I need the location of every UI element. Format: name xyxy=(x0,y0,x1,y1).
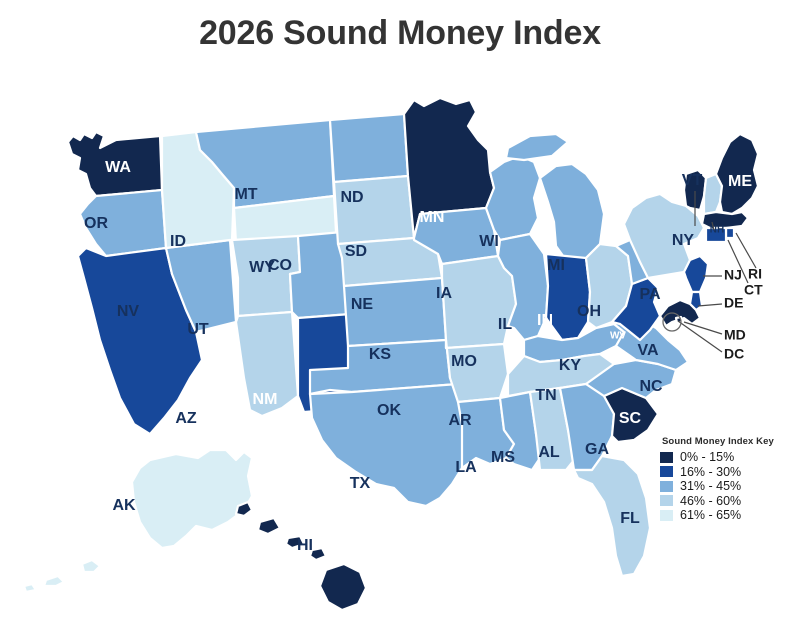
legend-label: 46% - 60% xyxy=(680,494,741,508)
state-KS[interactable] xyxy=(344,278,446,346)
legend-swatch xyxy=(660,510,673,521)
state-IN[interactable] xyxy=(546,254,590,340)
legend-row: 61% - 65% xyxy=(660,508,792,523)
state-label-MA: MA xyxy=(713,244,729,255)
legend-label: 16% - 30% xyxy=(680,465,741,479)
legend-row: 31% - 45% xyxy=(660,479,792,494)
legend-label: 0% - 15% xyxy=(680,450,734,464)
legend-swatch xyxy=(660,481,673,492)
callout-label-RI: RI xyxy=(748,266,762,282)
legend: Sound Money Index Key 0% - 15% 16% - 30%… xyxy=(660,436,792,523)
state-ND[interactable] xyxy=(330,114,408,182)
callout-label-DE: DE xyxy=(724,295,743,311)
state-HI[interactable] xyxy=(236,502,366,610)
state-AR[interactable] xyxy=(446,340,508,402)
leader-dc xyxy=(678,321,722,352)
leader-md xyxy=(684,322,722,334)
callout-label-MD: MD xyxy=(724,327,746,343)
callout-label-NJ: NJ xyxy=(724,267,742,283)
state-AK[interactable] xyxy=(24,450,252,592)
legend-row: 0% - 15% xyxy=(660,450,792,465)
us-map-svg: WA OR CA NV ID MT WY UT AZ CO NM ND SD N… xyxy=(0,78,800,638)
state-ME[interactable] xyxy=(716,134,758,214)
state-CT[interactable] xyxy=(706,228,726,242)
legend-label: 61% - 65% xyxy=(680,508,741,522)
state-WI[interactable] xyxy=(486,156,540,240)
state-OR[interactable] xyxy=(80,190,166,256)
state-MA[interactable] xyxy=(702,212,748,228)
legend-row: 16% - 30% xyxy=(660,465,792,480)
legend-swatch xyxy=(660,466,673,477)
legend-row: 46% - 60% xyxy=(660,494,792,509)
state-AZ[interactable] xyxy=(236,312,298,416)
legend-swatch xyxy=(660,495,673,506)
legend-swatch xyxy=(660,452,673,463)
state-label-AZ: AZ xyxy=(175,410,197,427)
state-label-CA: CA xyxy=(76,351,100,368)
callout-label-DC: DC xyxy=(724,346,744,362)
legend-title: Sound Money Index Key xyxy=(662,436,792,447)
state-FL[interactable] xyxy=(574,456,650,576)
state-TX[interactable] xyxy=(310,384,470,506)
legend-label: 31% - 45% xyxy=(680,479,741,493)
state-SD[interactable] xyxy=(334,176,414,244)
state-WA[interactable] xyxy=(68,132,162,196)
choropleth-map: WA OR CA NV ID MT WY UT AZ CO NM ND SD N… xyxy=(0,78,800,638)
state-label-AK: AK xyxy=(112,497,136,514)
state-RI[interactable] xyxy=(726,228,734,238)
callout-label-CT: CT xyxy=(744,282,763,298)
page-title: 2026 Sound Money Index xyxy=(0,14,800,53)
